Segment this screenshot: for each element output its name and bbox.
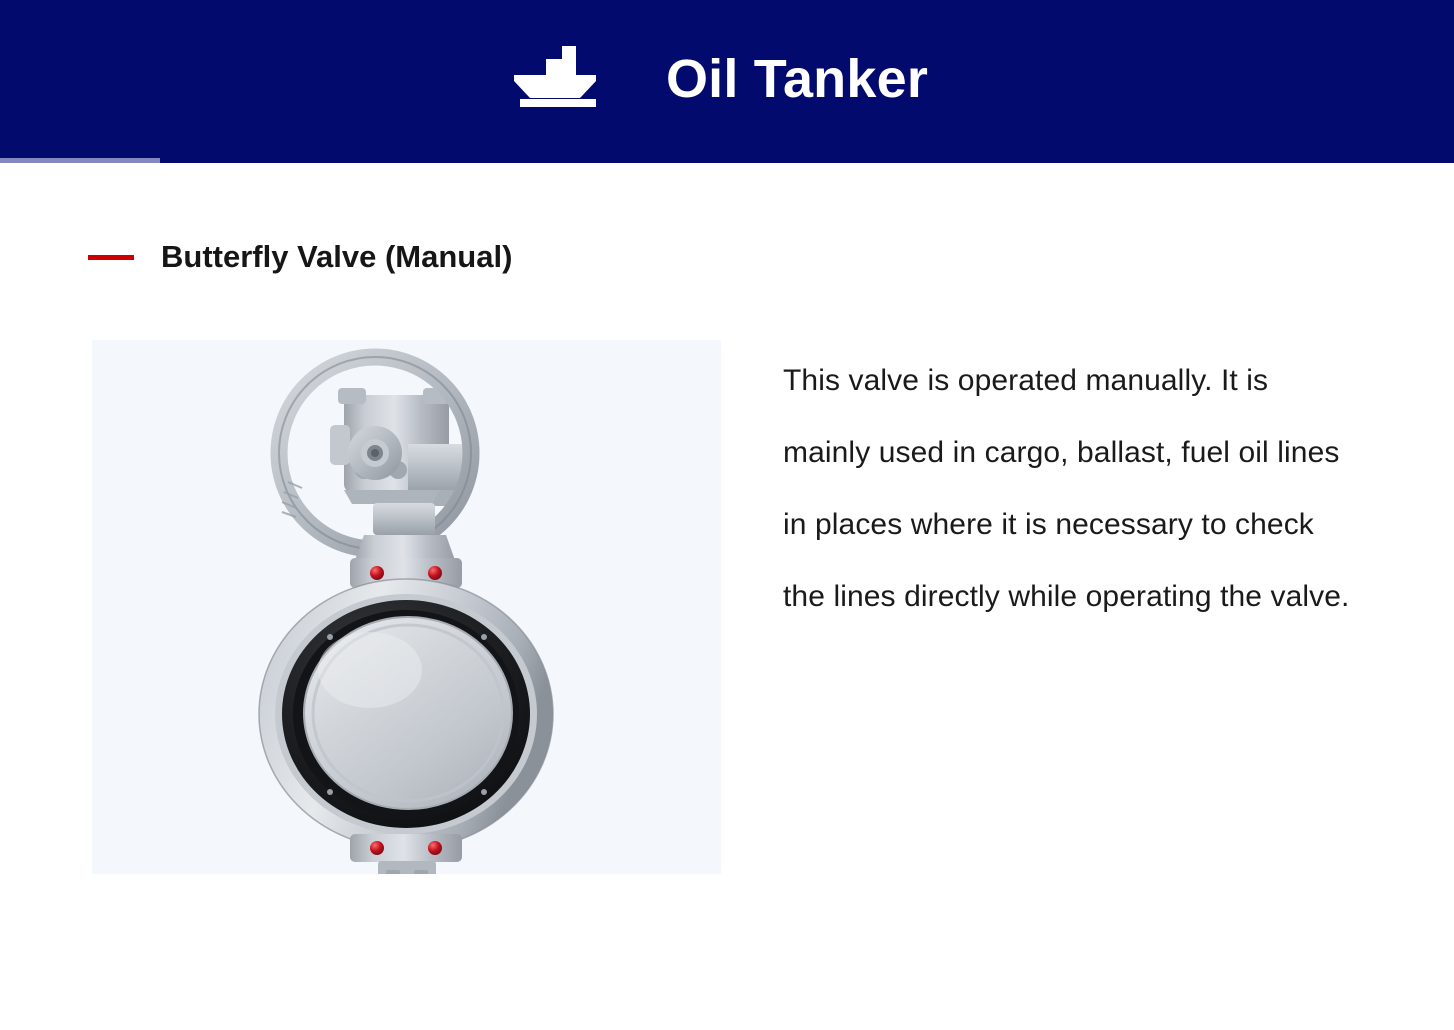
bolt-cap-red	[428, 566, 442, 580]
header-content: Oil Tanker	[506, 46, 928, 112]
page-title: Oil Tanker	[666, 52, 928, 106]
section-heading-label: Butterfly Valve (Manual)	[161, 240, 512, 274]
bolt-cap-red	[370, 566, 384, 580]
valve-description-text: This valve is operated manually. It is m…	[783, 345, 1363, 633]
butterfly-valve-illustration	[92, 340, 721, 874]
valve-body	[259, 579, 553, 849]
bolt-cap-red	[370, 841, 384, 855]
ship-icon	[506, 46, 610, 112]
heading-dash-icon	[88, 255, 134, 260]
page-header: Oil Tanker	[0, 0, 1454, 163]
header-accent-underline	[0, 158, 160, 163]
lower-flange	[350, 834, 462, 874]
section-heading: Butterfly Valve (Manual)	[88, 240, 512, 274]
valve-description: This valve is operated manually. It is m…	[783, 345, 1363, 633]
bolt-cap-red	[428, 841, 442, 855]
valve-image-panel	[92, 340, 721, 874]
